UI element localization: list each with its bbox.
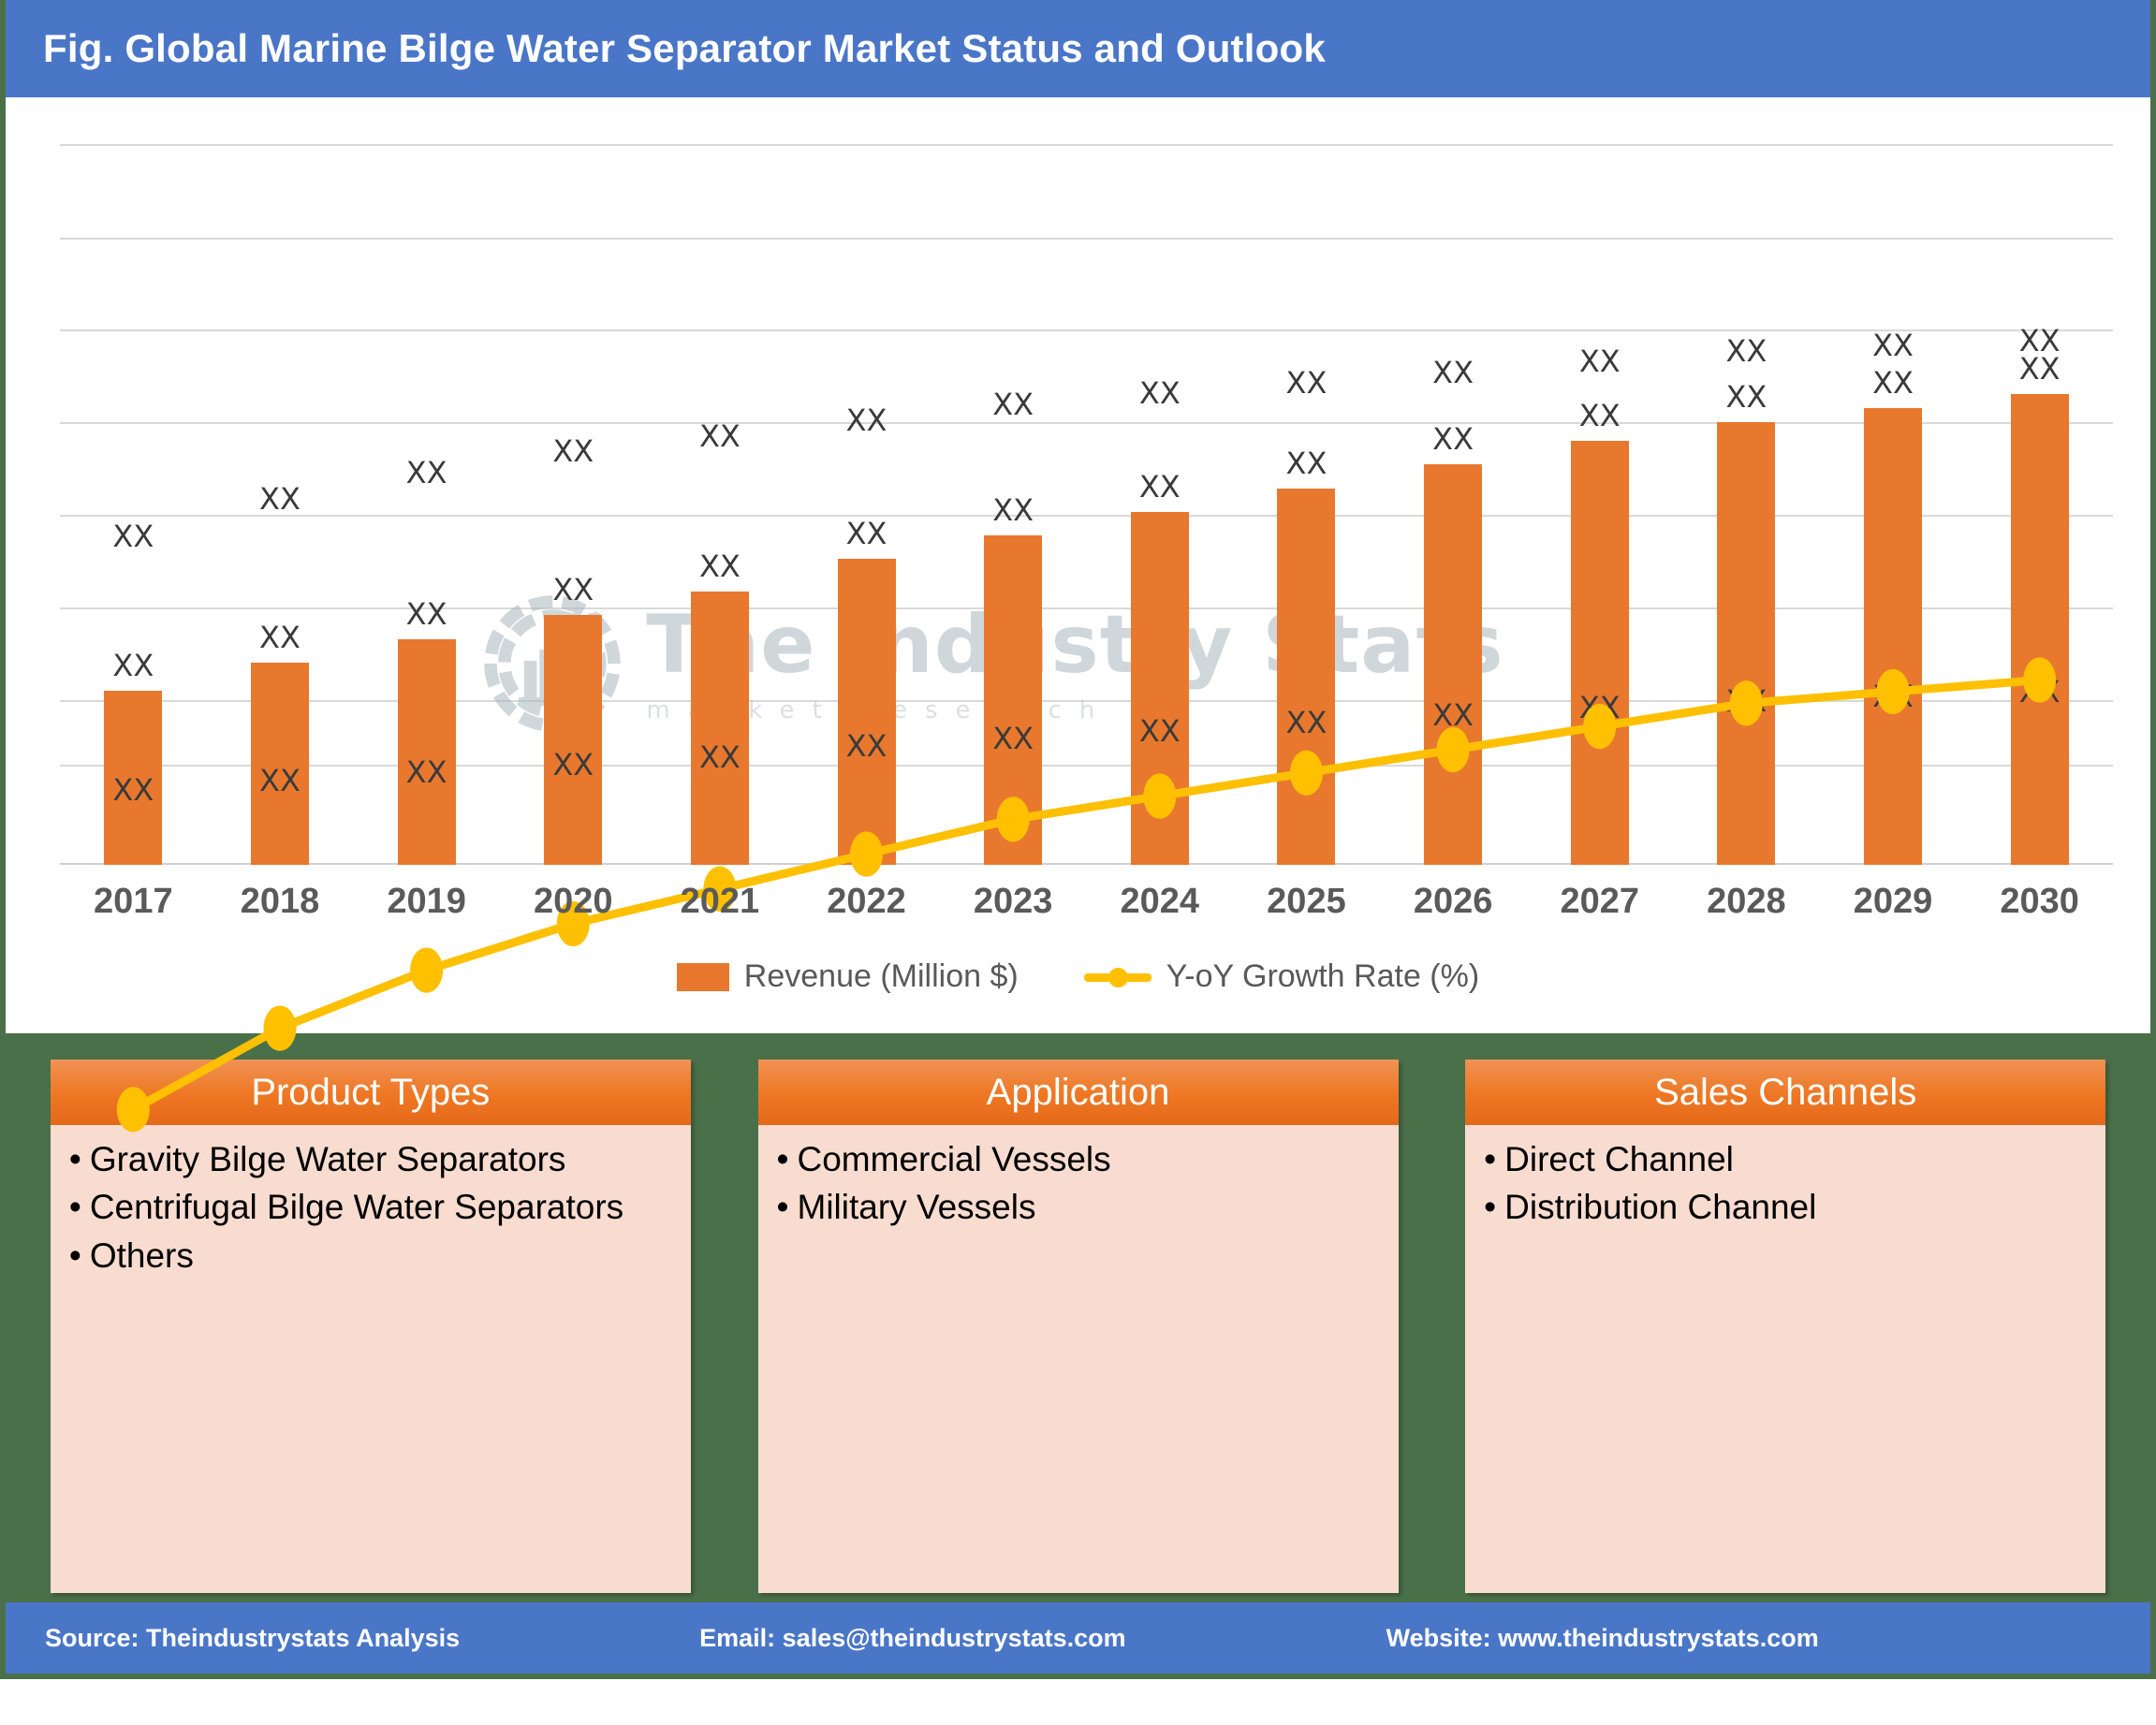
bar-slot: XXXX	[1233, 144, 1380, 865]
bar-inner-label: XX	[1277, 705, 1335, 740]
growth-rate-value-label: XX	[259, 481, 301, 517]
bar[interactable]: XXXX	[2011, 394, 2069, 865]
x-axis-tick-label: 2019	[353, 882, 500, 938]
bar-slot: XXXX	[793, 144, 940, 865]
footer-source: Source: Theindustrystats Analysis	[45, 1624, 460, 1653]
footer-website[interactable]: Website: www.theindustrystats.com	[1386, 1624, 1819, 1653]
title-bar: Fig. Global Marine Bilge Water Separator…	[0, 0, 2156, 97]
growth-rate-value-label: XX	[1286, 365, 1327, 401]
bar-value-label: XX	[1679, 379, 1812, 415]
bar-slot: XXXX	[1086, 144, 1233, 865]
legend-label-revenue: Revenue (Million $)	[744, 958, 1019, 995]
bar[interactable]: XXXX	[544, 615, 602, 865]
x-axis-tick-label: 2025	[1233, 882, 1380, 938]
growth-rate-value-label: XX	[2019, 323, 2061, 358]
bar[interactable]: XXXX	[838, 559, 896, 865]
list-item[interactable]: •Military Vessels	[777, 1188, 1380, 1226]
footer-email[interactable]: Email: sales@theindustrystats.com	[699, 1624, 1125, 1653]
bar-value-label: XX	[1386, 421, 1519, 457]
bullet-icon: •	[777, 1140, 796, 1178]
growth-rate-value-label: XX	[992, 387, 1034, 422]
category-card-body: •Commercial Vessels•Military Vessels	[758, 1125, 1399, 1593]
bar-series: XXXXXXXXXXXXXXXXXXXXXXXXXXXXXXXXXXXXXXXX…	[60, 144, 2113, 865]
bar-value-label: XX	[506, 572, 639, 607]
x-axis-tick-label: 2028	[1673, 882, 1820, 938]
bar-inner-label: XX	[2011, 674, 2069, 709]
list-item-label: Centrifugal Bilge Water Separators	[88, 1188, 623, 1226]
list-item[interactable]: •Others	[69, 1236, 672, 1275]
bar-inner-label: XX	[251, 763, 309, 798]
legend-bar-swatch-icon	[677, 963, 729, 991]
growth-rate-value-label: XX	[1432, 355, 1474, 390]
bar-slot: XXXX	[1380, 144, 1527, 865]
bar-value-label: XX	[360, 596, 493, 632]
x-axis-tick-label: 2024	[1086, 882, 1233, 938]
bar-value-label: XX	[1239, 446, 1372, 481]
bar[interactable]: XXXX	[1277, 489, 1335, 865]
bar-slot: XXXX	[1820, 144, 1967, 865]
bullet-icon: •	[69, 1188, 88, 1226]
category-column: Sales Channels•Direct Channel•Distributi…	[1431, 1060, 2139, 1593]
x-axis-tick-label: 2023	[940, 882, 1087, 938]
growth-rate-value-label: XX	[1725, 333, 1767, 369]
page-title: Fig. Global Marine Bilge Water Separator…	[43, 26, 1326, 71]
x-axis-tick-label: 2020	[500, 882, 647, 938]
growth-rate-value-label: XX	[406, 455, 447, 490]
bar[interactable]: XXXX	[691, 592, 749, 865]
x-axis-tick-label: 2030	[1966, 882, 2113, 938]
bar-slot: XXXX	[353, 144, 500, 865]
x-axis-tick-label: 2018	[207, 882, 354, 938]
bar-inner-label: XX	[544, 747, 602, 782]
bar[interactable]: XXXX	[251, 663, 309, 865]
list-item[interactable]: •Gravity Bilge Water Separators	[69, 1140, 672, 1178]
list-item[interactable]: •Centrifugal Bilge Water Separators	[69, 1188, 672, 1226]
list-item-label: Military Vessels	[796, 1188, 1036, 1226]
bar-inner-label: XX	[1864, 679, 1922, 714]
category-column: Application•Commercial Vessels•Military …	[725, 1060, 1432, 1593]
legend-item-growth-rate: Y-oY Growth Rate (%)	[1084, 958, 1479, 995]
bar-inner-label: XX	[1717, 683, 1775, 719]
x-axis-tick-label: 2026	[1380, 882, 1527, 938]
legend-line-marker-icon	[1084, 963, 1151, 991]
category-column: Product Types•Gravity Bilge Water Separa…	[17, 1060, 725, 1593]
bar-value-label: XX	[1093, 469, 1226, 504]
category-card-application: Application•Commercial Vessels•Military …	[758, 1060, 1399, 1593]
category-list: •Commercial Vessels•Military Vessels	[777, 1140, 1380, 1227]
footer-bar: Source: Theindustrystats Analysis Email:…	[6, 1602, 2150, 1674]
bar-inner-label: XX	[838, 728, 896, 764]
bar-value-label: XX	[946, 492, 1079, 528]
bar-inner-label: XX	[984, 721, 1042, 756]
x-axis-tick-label: 2027	[1526, 882, 1673, 938]
bar-value-label: XX	[66, 648, 199, 683]
list-item-label: Gravity Bilge Water Separators	[88, 1140, 566, 1178]
legend-label-growth-rate: Y-oY Growth Rate (%)	[1166, 958, 1479, 995]
poster-root: Fig. Global Marine Bilge Water Separator…	[0, 0, 2156, 1679]
bar-slot: XXXX	[60, 144, 207, 865]
bar-inner-label: XX	[691, 739, 749, 775]
category-card-title: Application	[758, 1060, 1399, 1125]
bar[interactable]: XXXX	[1424, 464, 1482, 865]
list-item-label: Commercial Vessels	[796, 1140, 1111, 1178]
category-card-title: Product Types	[51, 1060, 691, 1125]
bar-value-label: XX	[213, 620, 346, 655]
growth-rate-value-label: XX	[846, 402, 887, 438]
bar-slot: XXXX	[500, 144, 647, 865]
growth-rate-value-label: XX	[552, 433, 594, 469]
legend-item-revenue: Revenue (Million $)	[677, 958, 1019, 995]
category-card-title: Sales Channels	[1465, 1060, 2105, 1125]
chart-panel: The Industry Stats market research XXXXX…	[6, 97, 2150, 1033]
bar-value-label: XX	[800, 516, 933, 551]
bar-inner-label: XX	[1131, 713, 1189, 749]
bar[interactable]: XXXX	[984, 535, 1042, 865]
bar-inner-label: XX	[398, 754, 456, 790]
category-card-sales-channels: Sales Channels•Direct Channel•Distributi…	[1465, 1060, 2105, 1593]
bar-inner-label: XX	[1571, 690, 1629, 725]
list-item-label: Distribution Channel	[1503, 1188, 1816, 1226]
bar[interactable]: XXXX	[1571, 441, 1629, 865]
category-list: •Direct Channel•Distribution Channel	[1484, 1140, 2087, 1227]
bar-value-label: XX	[653, 548, 786, 584]
bar-value-label: XX	[1826, 365, 1959, 401]
x-axis-tick-label: 2017	[60, 882, 207, 938]
growth-rate-value-label: XX	[699, 418, 741, 454]
bullet-icon: •	[777, 1188, 796, 1226]
growth-rate-value-label: XX	[112, 519, 154, 554]
bar-slot: XXXX	[1966, 144, 2113, 865]
chart-legend: Revenue (Million $) Y-oY Growth Rate (%)	[6, 958, 2150, 995]
x-axis-tick-label: 2029	[1820, 882, 1967, 938]
bar[interactable]: XXXX	[398, 639, 456, 865]
list-item[interactable]: •Distribution Channel	[1484, 1188, 2087, 1226]
bar[interactable]: XXXX	[1717, 422, 1775, 865]
bar-slot: XXXX	[940, 144, 1087, 865]
bar-inner-label: XX	[104, 772, 162, 808]
category-panels: Product Types•Gravity Bilge Water Separa…	[0, 1033, 2156, 1602]
bullet-icon: •	[1484, 1188, 1503, 1226]
bar[interactable]: XXXX	[1864, 408, 1922, 865]
growth-rate-value-label: XX	[1872, 328, 1914, 363]
bullet-icon: •	[69, 1140, 88, 1178]
growth-rate-value-label: XX	[1139, 375, 1181, 411]
bullet-icon: •	[1484, 1140, 1503, 1178]
category-list: •Gravity Bilge Water Separators•Centrifu…	[69, 1140, 672, 1275]
bar-value-label: XX	[1533, 398, 1666, 433]
x-axis-tick-label: 2022	[793, 882, 940, 938]
plot-area: The Industry Stats market research XXXXX…	[60, 144, 2113, 865]
category-card-product-types: Product Types•Gravity Bilge Water Separa…	[51, 1060, 691, 1593]
list-item[interactable]: •Commercial Vessels	[777, 1140, 1380, 1178]
category-card-body: •Gravity Bilge Water Separators•Centrifu…	[51, 1125, 691, 1593]
category-card-body: •Direct Channel•Distribution Channel	[1465, 1125, 2105, 1593]
x-axis-tick-label: 2021	[647, 882, 794, 938]
bar-inner-label: XX	[1424, 697, 1482, 733]
bar[interactable]: XXXX	[104, 691, 162, 865]
x-axis-labels: 2017201820192020202120222023202420252026…	[60, 882, 2113, 938]
bar-slot: XXXX	[1526, 144, 1673, 865]
list-item-label: Others	[88, 1236, 194, 1275]
bar-slot: XXXX	[647, 144, 794, 865]
growth-rate-value-label: XX	[1579, 344, 1621, 379]
list-item-label: Direct Channel	[1503, 1140, 1734, 1178]
bullet-icon: •	[69, 1236, 88, 1275]
bar[interactable]: XXXX	[1131, 512, 1189, 865]
bar-slot: XXXX	[1673, 144, 1820, 865]
list-item[interactable]: •Direct Channel	[1484, 1140, 2087, 1178]
